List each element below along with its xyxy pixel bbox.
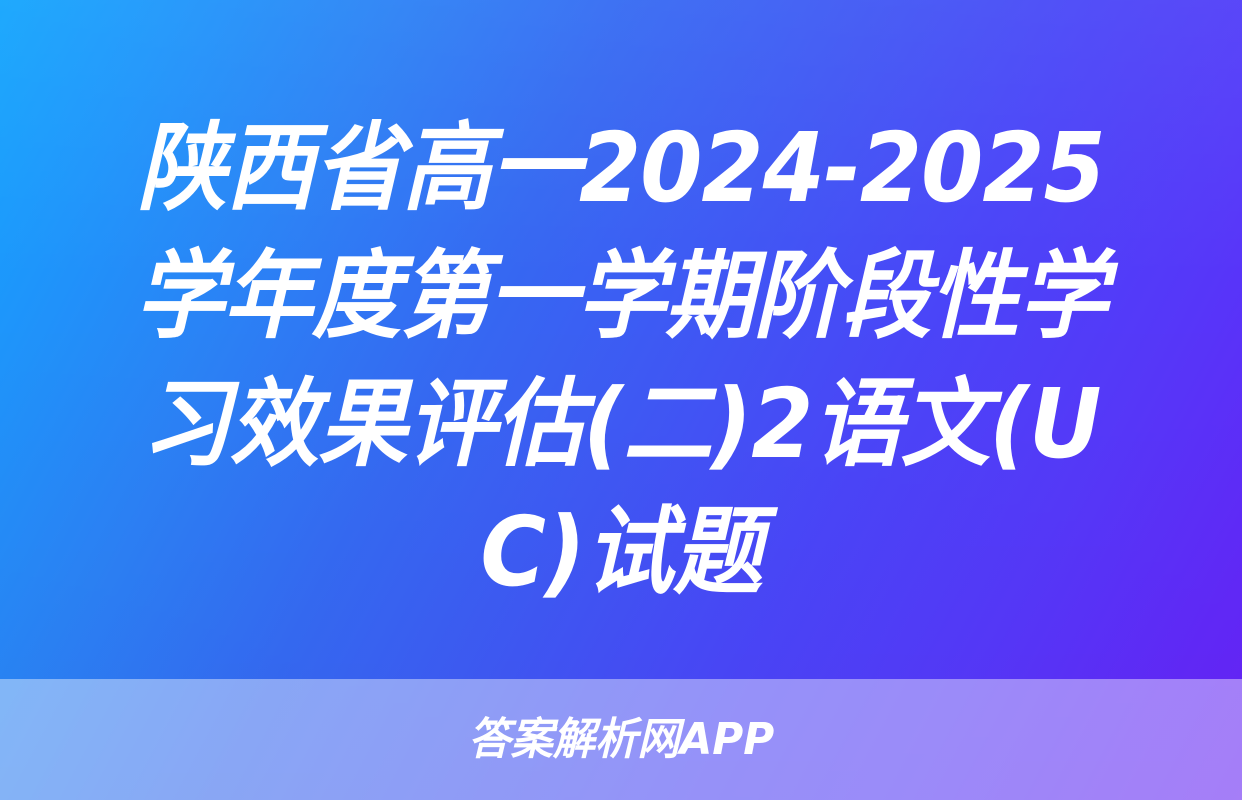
poster-title-line-1: 陕西省高一2024-2025 <box>56 104 1185 232</box>
exam-title-poster: 陕西省高一2024-2025 学年度第一学期阶段性学 习效果评估(二)2语文(U… <box>0 0 1242 800</box>
poster-title-line-3: 习效果评估(二)2语文(U <box>56 360 1185 488</box>
footer-brand-band: 答案解析网APP <box>0 679 1242 800</box>
poster-title-line-4: C)试题 <box>56 488 1185 616</box>
poster-title-block: 陕西省高一2024-2025 学年度第一学期阶段性学 习效果评估(二)2语文(U… <box>0 104 1242 616</box>
footer-brand-label: 答案解析网APP <box>468 714 774 766</box>
poster-title-line-2: 学年度第一学期阶段性学 <box>56 232 1185 360</box>
